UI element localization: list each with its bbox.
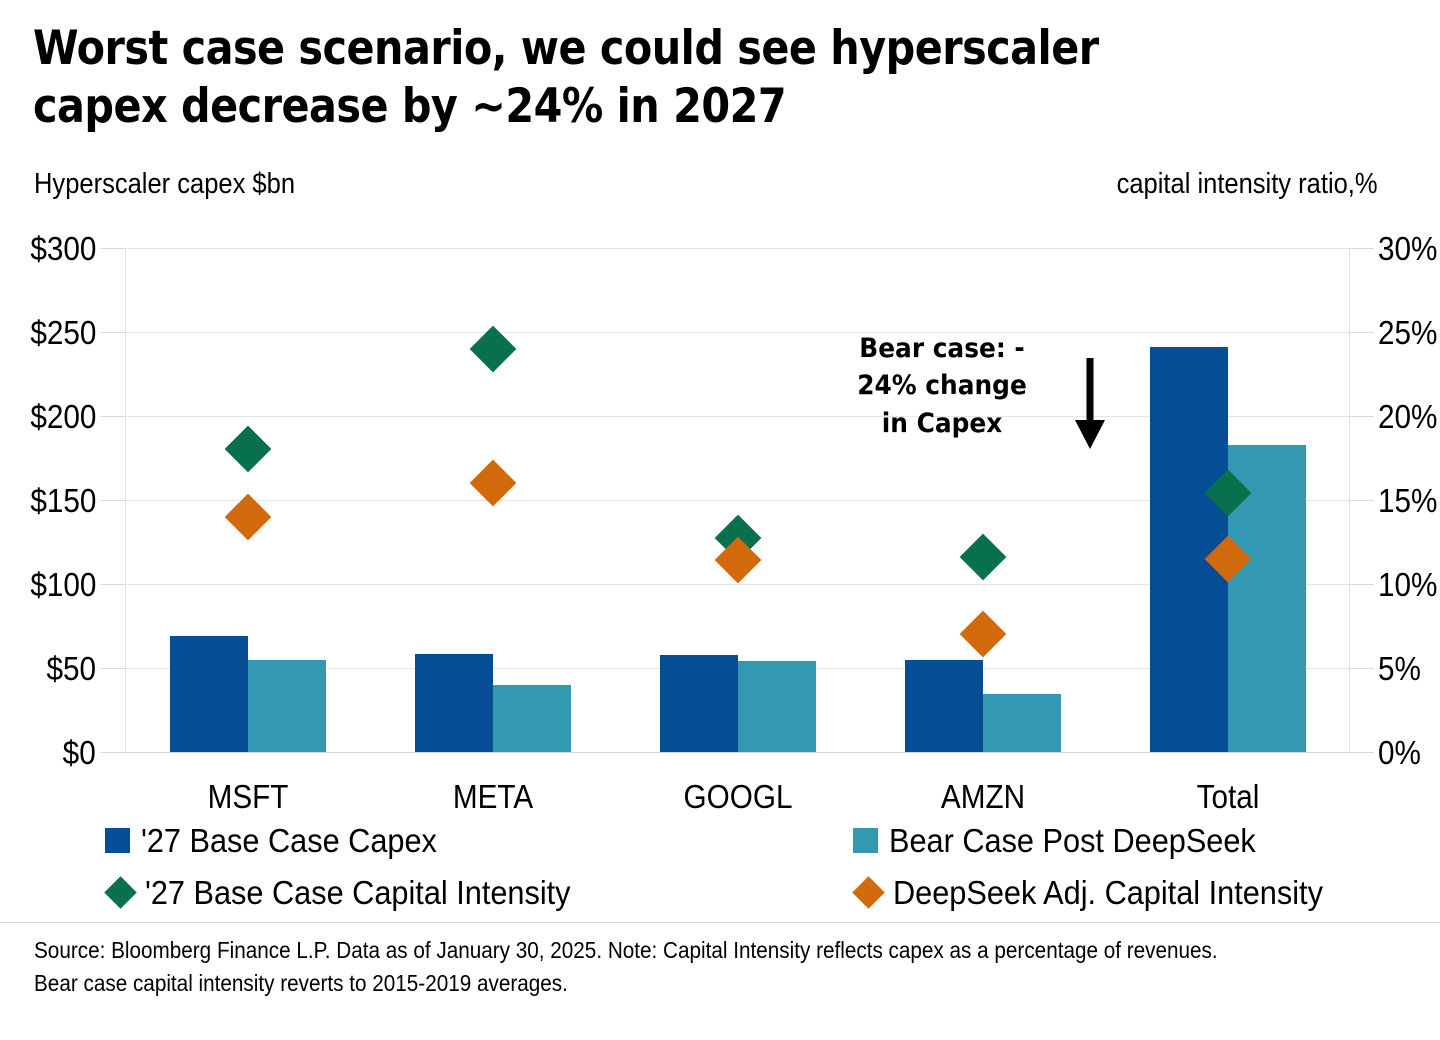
bar-googl-base-case (660, 655, 738, 752)
marker-amzn-deepseek-intensity (959, 611, 1006, 658)
right-axis-tick-label: 5% (1378, 652, 1421, 685)
right-axis-unit-label: capital intensity ratio,% (1117, 168, 1378, 201)
x-label-msft: MSFT (207, 778, 288, 816)
left-axis-tick-label: $200 (30, 400, 96, 433)
left-axis-tick (101, 668, 125, 669)
left-axis-unit-label: Hyperscaler capex $bn (34, 168, 295, 201)
legend-diamond-swatch (105, 877, 137, 909)
right-axis-tick (1350, 668, 1374, 669)
bar-amzn-bear-case (983, 694, 1061, 752)
legend-label: Bear Case Post DeepSeek (889, 824, 1256, 857)
right-axis-tick (1350, 248, 1374, 249)
right-axis-tick-label: 25% (1378, 316, 1437, 349)
legend-item[interactable]: DeepSeek Adj. Capital Intensity (853, 876, 1355, 909)
left-axis-tick-label: $50 (46, 652, 96, 685)
right-axis-tick-label: 0% (1378, 736, 1421, 769)
x-label-googl: GOOGL (683, 778, 792, 816)
left-axis-tick-label: $100 (30, 568, 96, 601)
marker-meta-deepseek-intensity (469, 460, 516, 507)
x-label-total: Total (1196, 778, 1259, 816)
right-axis-tick-label: 10% (1378, 568, 1437, 601)
right-axis-tick (1350, 584, 1374, 585)
bar-googl-bear-case (738, 661, 816, 752)
legend-label: DeepSeek Adj. Capital Intensity (893, 876, 1323, 909)
legend-item[interactable]: '27 Base Case Capital Intensity (105, 876, 603, 909)
marker-meta-base-intensity (469, 325, 516, 372)
source-note: Source: Bloomberg Finance L.P. Data as o… (34, 934, 1276, 999)
legend-diamond-swatch (853, 877, 885, 909)
right-axis-tick-labels: 0%5%10%15%20%25%30% (1378, 248, 1440, 752)
page-title: Worst case scenario, we could see hypers… (33, 20, 1177, 136)
left-axis-tick (101, 416, 125, 417)
right-axis-tick (1350, 416, 1374, 417)
legend-label: '27 Base Case Capex (141, 824, 437, 857)
diamond-icon (104, 876, 137, 909)
down-arrow-icon (1072, 356, 1108, 450)
right-axis-tick-label: 15% (1378, 484, 1437, 517)
x-axis-category-labels: MSFTMETAGOOGLAMZNTotal (125, 778, 1350, 824)
left-axis-tick-label: $150 (30, 484, 96, 517)
legend-square-swatch (105, 828, 130, 853)
chart-legend: '27 Base Case CapexBear Case Post DeepSe… (105, 824, 1395, 916)
legend-item[interactable]: '27 Base Case Capex (105, 824, 459, 857)
gridline (125, 752, 1350, 753)
right-axis-tick (1350, 752, 1374, 753)
left-axis-tick-labels: $0$50$100$150$200$250$300 (0, 248, 96, 752)
left-axis-tick (101, 752, 125, 753)
bar-msft-base-case (170, 636, 248, 752)
diamond-icon (852, 876, 885, 909)
left-axis-tick-label: $0 (63, 736, 96, 769)
left-axis-tick (101, 248, 125, 249)
right-axis-tick-label: 30% (1378, 232, 1437, 265)
legend-label: '27 Base Case Capital Intensity (145, 876, 571, 909)
legend-item[interactable]: Bear Case Post DeepSeek (853, 824, 1283, 857)
right-axis-tick-label: 20% (1378, 400, 1437, 433)
footnote-divider (0, 922, 1440, 923)
left-axis-tick-label: $300 (30, 232, 96, 265)
x-label-meta: META (452, 778, 532, 816)
right-axis-tick (1350, 500, 1374, 501)
bear-case-annotation: Bear case: - 24% change in Capex (832, 330, 1053, 442)
x-label-amzn: AMZN (940, 778, 1024, 816)
left-axis-tick (101, 332, 125, 333)
left-axis-tick (101, 500, 125, 501)
bar-meta-base-case (415, 654, 493, 752)
marker-amzn-base-intensity (959, 533, 1006, 580)
bar-meta-bear-case (493, 685, 571, 752)
left-axis-tick-label: $250 (30, 316, 96, 349)
marker-msft-base-intensity (224, 426, 271, 473)
legend-square-swatch (853, 828, 878, 853)
left-axis-tick (101, 584, 125, 585)
marker-msft-deepseek-intensity (224, 493, 271, 540)
chart-series-layer (125, 248, 1350, 752)
bar-amzn-base-case (905, 660, 983, 752)
bar-msft-bear-case (248, 660, 326, 752)
right-axis-tick (1350, 332, 1374, 333)
